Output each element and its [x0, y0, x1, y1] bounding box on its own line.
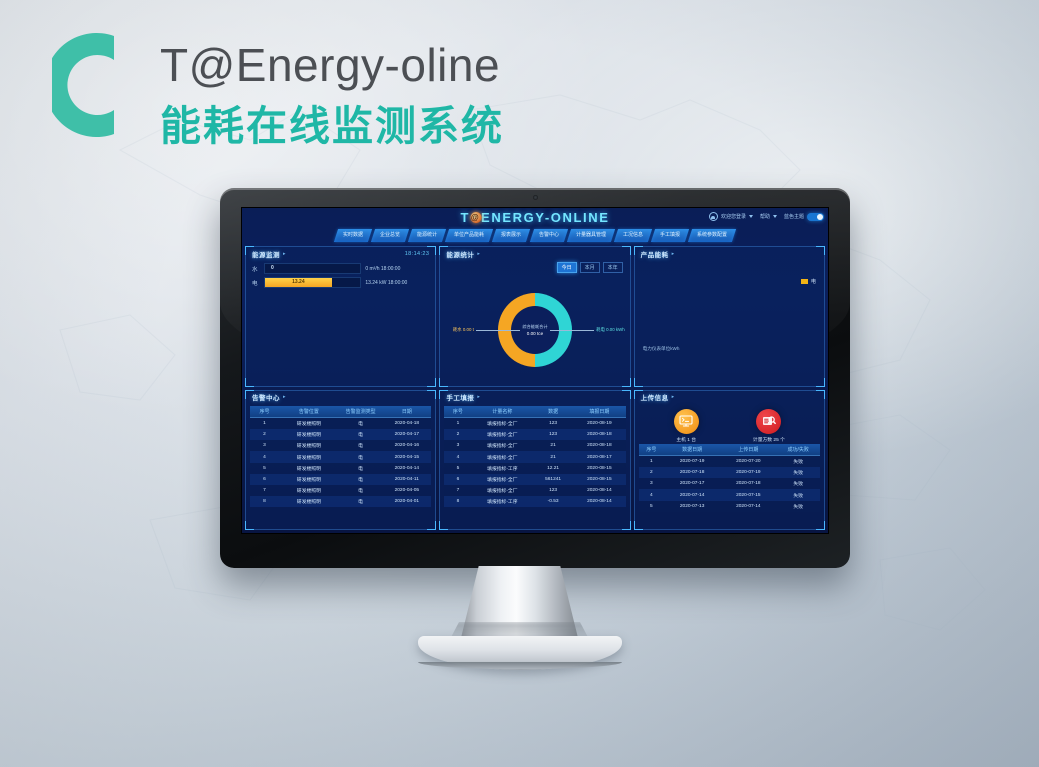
nav-item-alarm-center[interactable]: 告警中心 — [529, 229, 567, 242]
panel-title: 产品能耗 — [641, 249, 669, 259]
table-cell: 填报指标-工序 — [472, 463, 534, 474]
table-row[interactable]: 1填报指标-全厂1232020-08-19 — [444, 417, 625, 429]
period-tab-today[interactable]: 今日 — [557, 262, 577, 273]
table-cell: 填报指标-全厂 — [472, 429, 534, 440]
upload-stat-label: 主机 1 台 — [674, 436, 699, 443]
table-cell: 2020-07-19 — [720, 467, 776, 478]
table-cell: 电 — [339, 496, 383, 507]
col-index: 序号 — [250, 406, 279, 418]
nav-label: 告警中心 — [539, 229, 559, 242]
nav-item-condition-info[interactable]: 工况信息 — [613, 229, 651, 242]
at-symbol-icon — [470, 212, 481, 223]
nav-item-energy-stats[interactable]: 能源统计 — [408, 229, 446, 242]
nav-item-manual-entry[interactable]: 手工填报 — [650, 229, 688, 242]
table-row[interactable]: 12020-07-192020-07-20失败 — [639, 455, 820, 467]
col-upload-date: 上传日期 — [720, 444, 776, 456]
upload-stat-host[interactable]: 主机 1 台 — [674, 409, 699, 444]
table-row[interactable]: 32020-07-172020-07-18失败 — [639, 478, 820, 489]
table-cell: 3 — [250, 440, 279, 451]
page-subtitle: 能耗在线监测系统 — [160, 106, 504, 147]
table-cell: 2020-08-15 — [573, 463, 626, 474]
table-cell: 填报指标-全厂 — [472, 474, 534, 485]
nav-label: 实时数据 — [343, 229, 363, 242]
panel-energy-monitor: 能源监测 ▸ 18:14:23 水 0 0 m³/h 18:00:00 电 — [245, 246, 436, 387]
table-cell: 电 — [339, 429, 383, 440]
table-cell: 2020-07-18 — [664, 467, 720, 478]
main-nav: 实时数据 企业总览 能源统计 单位产品能耗 报表展示 告警中心 计量器具管理 工… — [242, 229, 828, 243]
table-cell: 失败 — [776, 501, 820, 512]
panel-upload-info: 上传信息 ▸ 主机 1 台 — [634, 390, 825, 531]
panel-body: 主机 1 台 计量方数 25 个 — [635, 404, 824, 530]
monitor-stand-base-edge — [418, 662, 622, 669]
table-row[interactable]: 6填报指标-全厂5612412020-08-15 — [444, 474, 625, 485]
nav-item-reports[interactable]: 报表展示 — [492, 229, 530, 242]
chart-legend: 电 — [801, 278, 816, 285]
table-row[interactable]: 4研发楼照明电2020-04-15 — [250, 451, 431, 462]
panel-energy-stats: 能源统计 ▸ 今日 本月 本年 综合能耗合计 0.00 tce — [439, 246, 630, 387]
panel-corner — [622, 246, 631, 255]
nav-item-overview[interactable]: 企业总览 — [371, 229, 409, 242]
donut-center-value: 0.00 tce — [527, 331, 543, 336]
table-cell: 2 — [444, 429, 471, 440]
col-index: 序号 — [444, 406, 471, 418]
table-row[interactable]: 2研发楼照明电2020-04-17 — [250, 429, 431, 440]
panel-corner — [427, 246, 436, 255]
energy-bar-value: 0 — [271, 264, 274, 273]
table-row[interactable]: 5研发楼照明电2020-04-14 — [250, 463, 431, 474]
table-cell: -0.53 — [533, 496, 573, 507]
energy-row-label: 水 — [252, 265, 260, 273]
table-cell: 2020-04-15 — [382, 451, 431, 462]
col-date: 填报日期 — [573, 406, 626, 418]
energy-bar-track: 13.24 — [264, 277, 361, 288]
theme-label: 蓝色主题 — [784, 213, 804, 220]
table-cell: 研发楼照明 — [279, 451, 339, 462]
table-cell: 21 — [533, 440, 573, 451]
table-cell: 失败 — [776, 489, 820, 500]
alarm-table-wrap[interactable]: 序号 告警位置 告警监测类型 日期 1研发楼照明电2020-04-182研发楼照… — [250, 406, 431, 528]
col-status: 成功/失败 — [776, 444, 820, 456]
table-cell: 21 — [533, 451, 573, 462]
panel-menu-icon[interactable]: ▸ — [283, 394, 286, 400]
table-row[interactable]: 52020-07-132020-07-14失败 — [639, 501, 820, 512]
help-link[interactable]: 帮助 — [760, 213, 777, 220]
table-cell: 5 — [639, 501, 664, 512]
table-cell: 1 — [444, 417, 471, 429]
table-cell: 6 — [444, 474, 471, 485]
panel-body: 水 0 0 m³/h 18:00:00 电 13.24 13. — [246, 260, 435, 386]
table-row[interactable]: 2填报指标-全厂1232020-08-18 — [444, 429, 625, 440]
panel-body: 电 电力仪表单位kWh — [635, 260, 824, 386]
panel-product-energy: 产品能耗 ▸ 电 电力仪表单位kWh — [634, 246, 825, 387]
leader-line-left — [476, 330, 520, 331]
panel-header: 上传信息 ▸ — [635, 391, 824, 404]
table-cell: 2020-08-15 — [573, 474, 626, 485]
table-cell: 研发楼照明 — [279, 496, 339, 507]
energy-row-meta: 13.24 kW 18:00:00 — [365, 280, 429, 286]
period-tab-month[interactable]: 本月 — [580, 262, 600, 273]
panel-header: 能源监测 ▸ 18:14:23 — [246, 247, 435, 260]
help-label: 帮助 — [760, 213, 770, 220]
table-cell: 4 — [639, 489, 664, 500]
panel-title: 手工填报 — [446, 392, 474, 402]
col-type: 告警监测类型 — [339, 406, 383, 418]
panel-header: 手工填报 ▸ — [440, 391, 629, 404]
upload-stat-label: 计量方数 25 个 — [753, 436, 785, 443]
table-row[interactable]: 4填报指标-全厂212020-08-17 — [444, 451, 625, 462]
panel-corner — [622, 390, 631, 399]
dashboard-grid: 能源监测 ▸ 18:14:23 水 0 0 m³/h 18:00:00 电 — [245, 246, 825, 530]
dashboard-user-area: 欢迎您登录 帮助 蓝色主题 — [709, 212, 824, 221]
table-cell: 失败 — [776, 467, 820, 478]
webcam-dot — [533, 195, 538, 200]
table-cell: 2 — [250, 429, 279, 440]
chevron-down-icon — [749, 215, 753, 218]
table-cell: 2020-04-18 — [382, 417, 431, 429]
period-segmented-control: 今日 本月 本年 — [557, 262, 623, 273]
table-cell: 2020-04-05 — [382, 485, 431, 496]
nav-label: 工况信息 — [623, 229, 643, 242]
table-cell: 2020-07-13 — [664, 501, 720, 512]
nav-label: 报表展示 — [501, 229, 521, 242]
table-cell: 研发楼照明 — [279, 485, 339, 496]
table-cell: 2020-08-17 — [573, 451, 626, 462]
table-header-row: 序号 计量名称 数据 填报日期 — [444, 406, 625, 418]
table-cell: 2020-08-18 — [573, 429, 626, 440]
panel-menu-icon[interactable]: ▸ — [477, 251, 480, 257]
table-cell: 2020-08-18 — [573, 440, 626, 451]
manual-entry-table-wrap[interactable]: 序号 计量名称 数据 填报日期 1填报指标-全厂1232020-08-192填报… — [444, 406, 625, 528]
panel-header: 能源统计 ▸ — [440, 247, 629, 260]
table-cell: 电 — [339, 485, 383, 496]
upload-stat-meters[interactable]: 计量方数 25 个 — [753, 409, 785, 444]
dashboard-title-right: ENERGY-ONLINE — [481, 210, 609, 225]
brand-header: T@Energy-oline 能耗在线监测系统 — [52, 22, 612, 152]
panel-corner — [816, 246, 825, 255]
table-cell: 123 — [533, 485, 573, 496]
chevron-down-icon — [773, 215, 777, 218]
energy-bar-value: 13.24 — [292, 278, 305, 287]
table-row[interactable]: 42020-07-142020-07-15失败 — [639, 489, 820, 500]
panel-alarm-center: 告警中心 ▸ 序号 告警位置 告警监测类型 日期 1研发楼照明电2020-04-… — [245, 390, 436, 531]
dashboard-title-left: T — [461, 210, 471, 225]
panel-menu-icon[interactable]: ▸ — [672, 394, 675, 400]
energy-bar-track: 0 — [264, 263, 361, 274]
table-cell: 3 — [444, 440, 471, 451]
table-cell: 2020-04-01 — [382, 496, 431, 507]
table-cell: 12.21 — [533, 463, 573, 474]
table-cell: 2020-04-11 — [382, 474, 431, 485]
energy-row-water: 水 0 0 m³/h 18:00:00 — [252, 263, 429, 274]
donut-chart-wrap: 综合能耗合计 0.00 tce 耗水 0.00 t 耗电 0.00 kWh — [440, 278, 629, 382]
upload-table: 序号 数据日期 上传日期 成功/失败 12020-07-192020-07-20… — [639, 444, 820, 512]
table-cell: 电 — [339, 417, 383, 429]
col-date: 日期 — [382, 406, 431, 418]
col-index: 序号 — [639, 444, 664, 456]
col-data-date: 数据日期 — [664, 444, 720, 456]
table-cell: 2020-07-17 — [664, 478, 720, 489]
dashboard-title: TENERGY-ONLINE — [461, 210, 610, 225]
table-cell: 3 — [639, 478, 664, 489]
table-cell: 4 — [444, 451, 471, 462]
legend-swatch-electric — [801, 279, 808, 284]
table-cell: 1 — [639, 455, 664, 467]
energy-row-label: 电 — [252, 279, 260, 287]
panel-body: 今日 本月 本年 综合能耗合计 0.00 tce 耗水 — [440, 260, 629, 386]
leader-line-right — [550, 330, 594, 331]
donut-center-label: 综合能耗合计 — [522, 324, 547, 330]
user-menu[interactable]: 欢迎您登录 — [709, 212, 753, 221]
page-title: T@Energy-oline — [160, 42, 500, 88]
table-cell: 2020-08-19 — [573, 417, 626, 429]
table-cell: 7 — [444, 485, 471, 496]
upload-table-body: 12020-07-192020-07-20失败22020-07-182020-0… — [639, 455, 820, 511]
panel-title: 上传信息 — [641, 392, 669, 402]
table-cell: 2020-07-19 — [664, 455, 720, 467]
upload-stats: 主机 1 台 计量方数 25 个 — [635, 404, 824, 444]
table-cell: 4 — [250, 451, 279, 462]
nav-label: 能源统计 — [417, 229, 437, 242]
panel-menu-icon[interactable]: ▸ — [672, 251, 675, 257]
table-cell: 123 — [533, 417, 573, 429]
table-cell: 填报指标-全厂 — [472, 451, 534, 462]
table-cell: 2020-04-17 — [382, 429, 431, 440]
nav-item-meter-management[interactable]: 计量器具管理 — [566, 229, 614, 242]
user-icon — [709, 212, 718, 221]
document-search-icon — [756, 409, 781, 434]
panel-menu-icon[interactable]: ▸ — [283, 251, 286, 257]
c-mark-logo — [52, 30, 118, 140]
upload-table-wrap[interactable]: 序号 数据日期 上传日期 成功/失败 12020-07-192020-07-20… — [639, 444, 820, 528]
table-row[interactable]: 3研发楼照明电2020-04-16 — [250, 440, 431, 451]
table-cell: 123 — [533, 429, 573, 440]
table-header-row: 序号 数据日期 上传日期 成功/失败 — [639, 444, 820, 456]
table-cell: 2020-04-16 — [382, 440, 431, 451]
panel-menu-icon[interactable]: ▸ — [477, 394, 480, 400]
nav-label: 单位产品能耗 — [454, 229, 484, 242]
energy-row-electric: 电 13.24 13.24 kW 18:00:00 — [252, 277, 429, 288]
table-cell: 失败 — [776, 455, 820, 467]
table-cell: 2 — [639, 467, 664, 478]
table-cell: 研发楼照明 — [279, 417, 339, 429]
period-tab-year[interactable]: 本年 — [603, 262, 623, 273]
theme-toggle[interactable] — [807, 213, 824, 221]
energy-row-meta: 0 m³/h 18:00:00 — [365, 266, 429, 272]
clock-label: 18:14:23 — [405, 251, 430, 257]
panel-title: 告警中心 — [252, 392, 280, 402]
donut-label-water: 耗水 0.00 t — [453, 327, 474, 333]
table-cell: 2020-08-14 — [573, 496, 626, 507]
col-location: 告警位置 — [279, 406, 339, 418]
table-row[interactable]: 22020-07-182020-07-19失败 — [639, 467, 820, 478]
table-cell: 研发楼照明 — [279, 440, 339, 451]
nav-label: 系统参数配置 — [697, 229, 727, 242]
table-cell: 电 — [339, 463, 383, 474]
table-cell: 研发楼照明 — [279, 474, 339, 485]
nav-label: 计量器具管理 — [576, 229, 606, 242]
nav-item-unit-product-energy[interactable]: 单位产品能耗 — [445, 229, 493, 242]
table-cell: 失败 — [776, 478, 820, 489]
table-row[interactable]: 8研发楼照明电2020-04-01 — [250, 496, 431, 507]
table-row[interactable]: 6研发楼照明电2020-04-11 — [250, 474, 431, 485]
table-cell: 2020-07-20 — [720, 455, 776, 467]
table-cell: 2020-07-14 — [720, 501, 776, 512]
table-cell: 填报指标-全厂 — [472, 440, 534, 451]
panel-title: 能源监测 — [252, 249, 280, 259]
panel-header: 产品能耗 ▸ — [635, 247, 824, 260]
table-cell: 8 — [444, 496, 471, 507]
table-cell: 电 — [339, 474, 383, 485]
table-row[interactable]: 3填报指标-全厂212020-08-18 — [444, 440, 625, 451]
table-cell: 7 — [250, 485, 279, 496]
table-cell: 填报指标-全厂 — [472, 417, 534, 429]
panel-corner — [427, 390, 436, 399]
table-cell: 1 — [250, 417, 279, 429]
table-cell: 填报指标-工序 — [472, 496, 534, 507]
table-cell: 2020-04-14 — [382, 463, 431, 474]
monitor-device: TENERGY-ONLINE 欢迎您登录 帮助 蓝色主题 — [220, 188, 850, 568]
table-cell: 电 — [339, 440, 383, 451]
nav-label: 手工填报 — [660, 229, 680, 242]
col-value: 数据 — [533, 406, 573, 418]
nav-label: 企业总览 — [380, 229, 400, 242]
panel-header: 告警中心 ▸ — [246, 391, 435, 404]
table-cell: 电 — [339, 451, 383, 462]
table-cell: 5 — [444, 463, 471, 474]
table-cell: 2020-07-15 — [720, 489, 776, 500]
axis-unit-label: 电力仪表单位kWh — [643, 346, 680, 352]
panel-corner — [816, 390, 825, 399]
manual-entry-table: 序号 计量名称 数据 填报日期 1填报指标-全厂1232020-08-192填报… — [444, 406, 625, 508]
panel-manual-entry: 手工填报 ▸ 序号 计量名称 数据 填报日期 1填报指标-全厂1232020-0… — [439, 390, 630, 531]
table-cell: 2020-07-18 — [720, 478, 776, 489]
donut-label-electric: 耗电 0.00 kWh — [596, 327, 625, 333]
user-label: 欢迎您登录 — [721, 213, 746, 220]
table-row[interactable]: 8填报指标-工序-0.532020-08-14 — [444, 496, 625, 507]
table-row[interactable]: 7研发楼照明电2020-04-05 — [250, 485, 431, 496]
table-cell: 8 — [250, 496, 279, 507]
table-row[interactable]: 1研发楼照明电2020-04-18 — [250, 417, 431, 429]
dashboard-screen: TENERGY-ONLINE 欢迎您登录 帮助 蓝色主题 — [242, 208, 828, 533]
table-cell: 填报指标-全厂 — [472, 485, 534, 496]
nav-item-realtime[interactable]: 实时数据 — [334, 229, 372, 242]
alarm-table: 序号 告警位置 告警监测类型 日期 1研发楼照明电2020-04-182研发楼照… — [250, 406, 431, 508]
col-meter-name: 计量名称 — [472, 406, 534, 418]
table-cell: 研发楼照明 — [279, 429, 339, 440]
table-row[interactable]: 7填报指标-全厂1232020-08-14 — [444, 485, 625, 496]
table-cell: 2020-07-14 — [664, 489, 720, 500]
table-cell: 研发楼照明 — [279, 463, 339, 474]
table-cell: 561241 — [533, 474, 573, 485]
theme-switch[interactable]: 蓝色主题 — [784, 213, 824, 221]
dashboard-topbar: TENERGY-ONLINE 欢迎您登录 帮助 蓝色主题 — [242, 208, 828, 228]
manual-entry-table-body: 1填报指标-全厂1232020-08-192填报指标-全厂1232020-08-… — [444, 417, 625, 507]
table-cell: 2020-08-14 — [573, 485, 626, 496]
legend-label-electric: 电 — [811, 278, 816, 285]
table-row[interactable]: 5填报指标-工序12.212020-08-15 — [444, 463, 625, 474]
table-cell: 5 — [250, 463, 279, 474]
server-terminal-icon — [674, 409, 699, 434]
alarm-table-body: 1研发楼照明电2020-04-182研发楼照明电2020-04-173研发楼照明… — [250, 417, 431, 507]
table-cell: 6 — [250, 474, 279, 485]
table-header-row: 序号 告警位置 告警监测类型 日期 — [250, 406, 431, 418]
nav-item-system-config[interactable]: 系统参数配置 — [687, 229, 735, 242]
panel-title: 能源统计 — [446, 249, 474, 259]
